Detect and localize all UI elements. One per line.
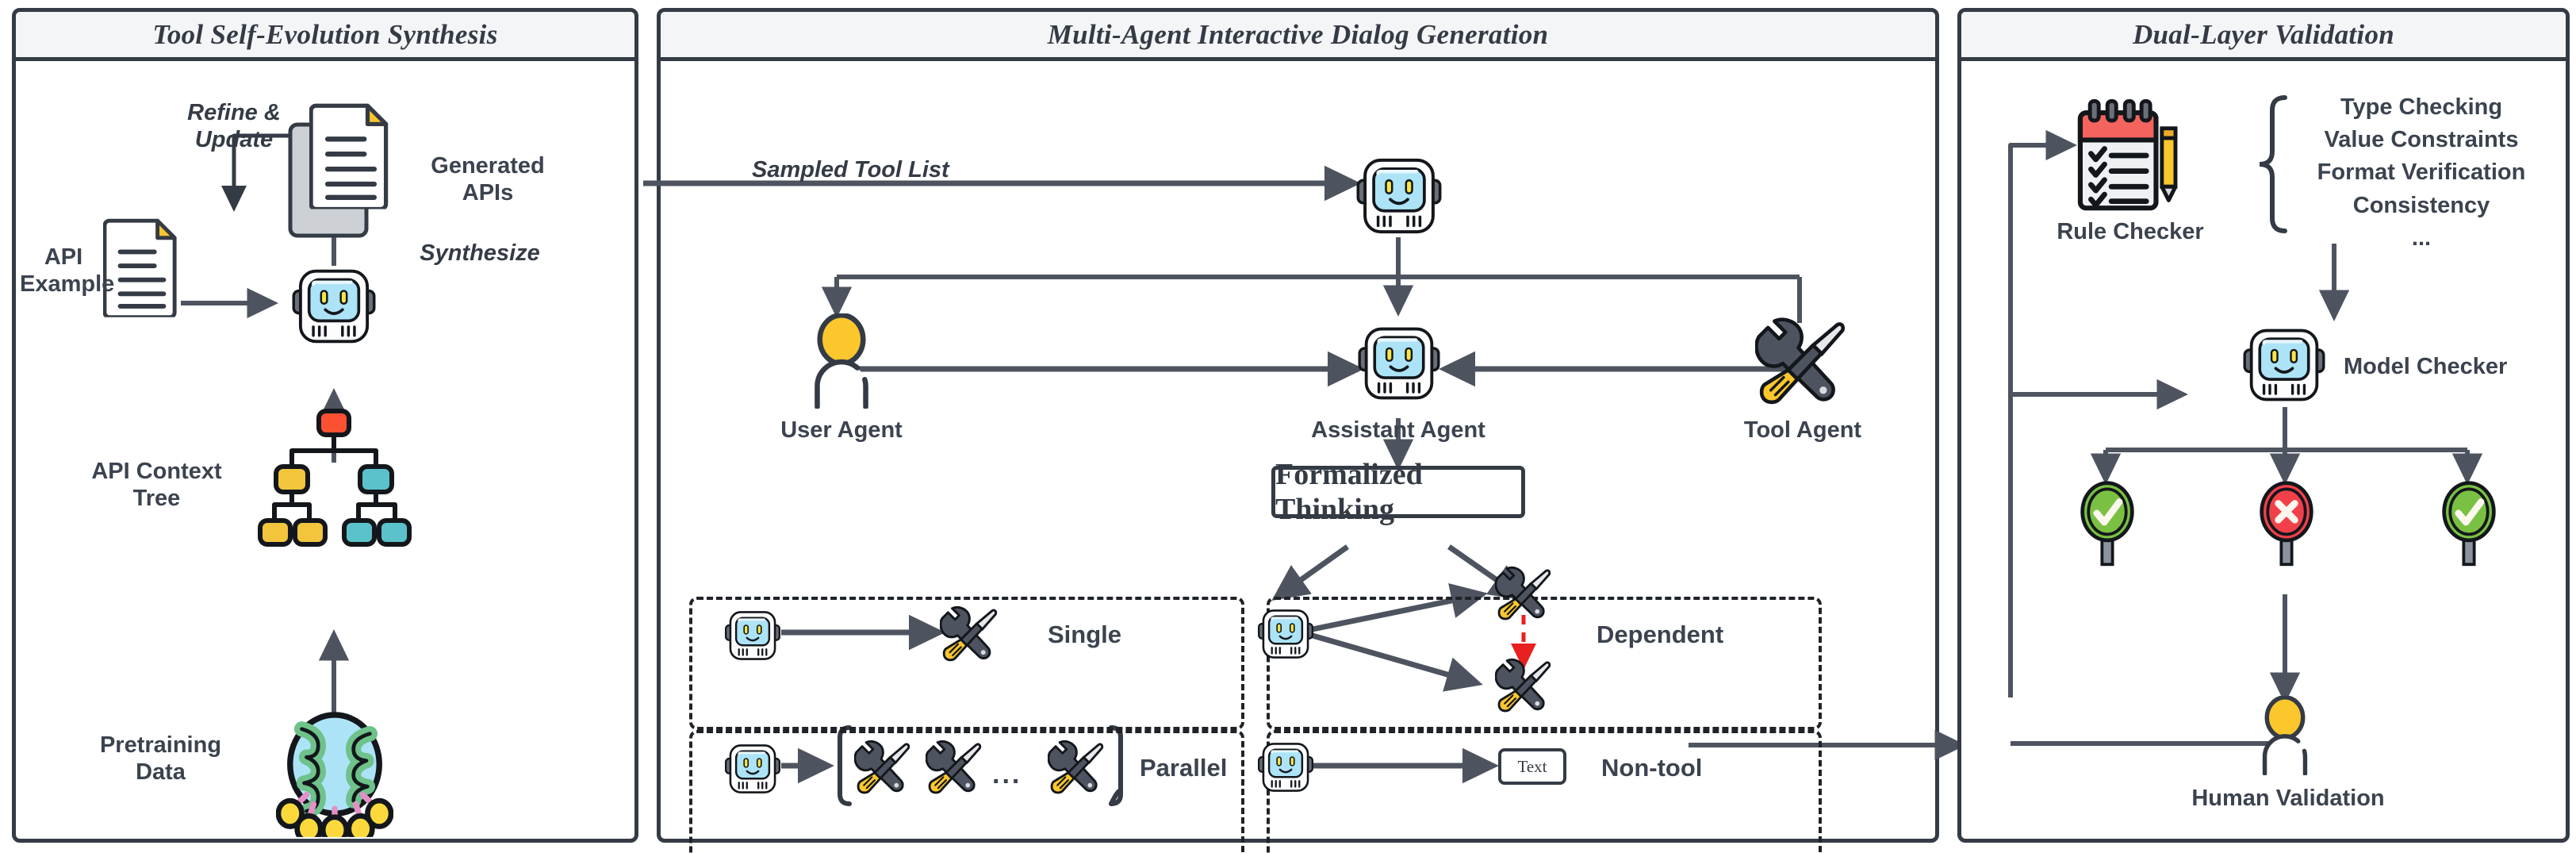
label-refine-update: Refine & Update — [155, 99, 313, 153]
wrench-screwdriver-icon-parallel-1 — [854, 740, 911, 797]
label-model-checker: Model Checker — [2344, 353, 2558, 380]
panel-2-header: Multi-Agent Interactive Dialog Generatio… — [661, 12, 1935, 61]
robot-icon — [291, 263, 377, 349]
panel-tool-self-evolution: Tool Self-Evolution Synthesis — [12, 8, 638, 843]
wrench-screwdriver-icon-dependent-2 — [1495, 658, 1552, 715]
wrench-screwdriver-icon-single — [940, 605, 999, 664]
formalized-thinking-box: Formalized Thinking — [1271, 466, 1525, 518]
robot-icon-dependent — [1257, 605, 1314, 663]
wrench-screwdriver-icon-parallel-2 — [926, 740, 983, 797]
label-synthesize: Synthesize — [377, 240, 583, 267]
label-api-context-tree: API Context Tree — [71, 458, 242, 512]
panel-dual-layer-validation: Dual-Layer Validation — [1957, 8, 2570, 843]
label-dependent: Dependent — [1597, 621, 1723, 649]
panel-3-body: Rule Checker Type Checking Value Constra… — [1961, 61, 2566, 839]
person-icon-human-validation — [2248, 696, 2321, 775]
robot-icon-model-checker — [2242, 323, 2326, 407]
panel-3-header: Dual-Layer Validation — [1961, 12, 2566, 61]
robot-icon-assistant-agent — [1357, 321, 1441, 405]
label-pretraining-data: Pretraining Data — [71, 732, 250, 786]
text-chip-label: Text — [1517, 757, 1547, 777]
label-api-example: API Example — [20, 244, 107, 298]
diagram-root: Tool Self-Evolution Synthesis — [0, 0, 2576, 853]
panel-1-header: Tool Self-Evolution Synthesis — [16, 12, 634, 61]
robot-icon-parallel — [724, 740, 781, 797]
label-parallel-ellipsis: ... — [992, 759, 1022, 790]
wrench-screwdriver-icon-dependent-1 — [1495, 566, 1552, 623]
wrench-screwdriver-icon-tool-agent — [1755, 317, 1847, 409]
label-assistant-agent: Assistant Agent — [1287, 417, 1509, 444]
panel-1-title: Tool Self-Evolution Synthesis — [152, 19, 497, 51]
document-icon — [103, 216, 181, 317]
globe-network-icon — [276, 708, 393, 837]
label-generated-apis: Generated APIs — [404, 152, 571, 206]
robot-icon-non-tool — [1257, 739, 1314, 796]
label-tool-agent: Tool Agent — [1715, 417, 1890, 444]
label-sampled-tool-list: Sampled Tool List — [752, 156, 1014, 183]
panel-3-title: Dual-Layer Validation — [2133, 19, 2394, 51]
label-user-agent: User Agent — [754, 417, 929, 444]
panel-2-body: Sampled Tool List User Agent Assist — [661, 61, 1935, 839]
label-parallel: Parallel — [1140, 754, 1227, 782]
clipboard-checklist-icon — [2072, 99, 2179, 216]
api-context-tree-icon — [246, 390, 424, 549]
panel-1-body: Refine & Update Generated APIs Synthesiz… — [16, 61, 634, 839]
panel-multi-agent-dialog: Multi-Agent Interactive Dialog Generatio… — [657, 8, 1939, 843]
rule-items-list: Type Checking Value Constraints Format V… — [2290, 91, 2552, 255]
wrench-screwdriver-icon-parallel-n — [1048, 740, 1105, 797]
person-icon — [797, 313, 886, 409]
formalized-thinking-label: Formalized Thinking — [1275, 457, 1521, 527]
label-non-tool: Non-tool — [1601, 754, 1702, 782]
check-badge-icon-left — [2077, 480, 2137, 569]
label-human-validation: Human Validation — [2169, 785, 2407, 812]
robot-icon-single — [724, 607, 781, 664]
cross-badge-icon-center — [2256, 480, 2317, 569]
panel-2-title: Multi-Agent Interactive Dialog Generatio… — [1048, 19, 1549, 51]
text-chip: Text — [1498, 748, 1566, 785]
robot-icon-dialog-source — [1355, 152, 1443, 240]
label-single: Single — [1048, 621, 1121, 649]
label-rule-checker: Rule Checker — [2047, 218, 2214, 245]
check-badge-icon-right — [2439, 480, 2499, 569]
